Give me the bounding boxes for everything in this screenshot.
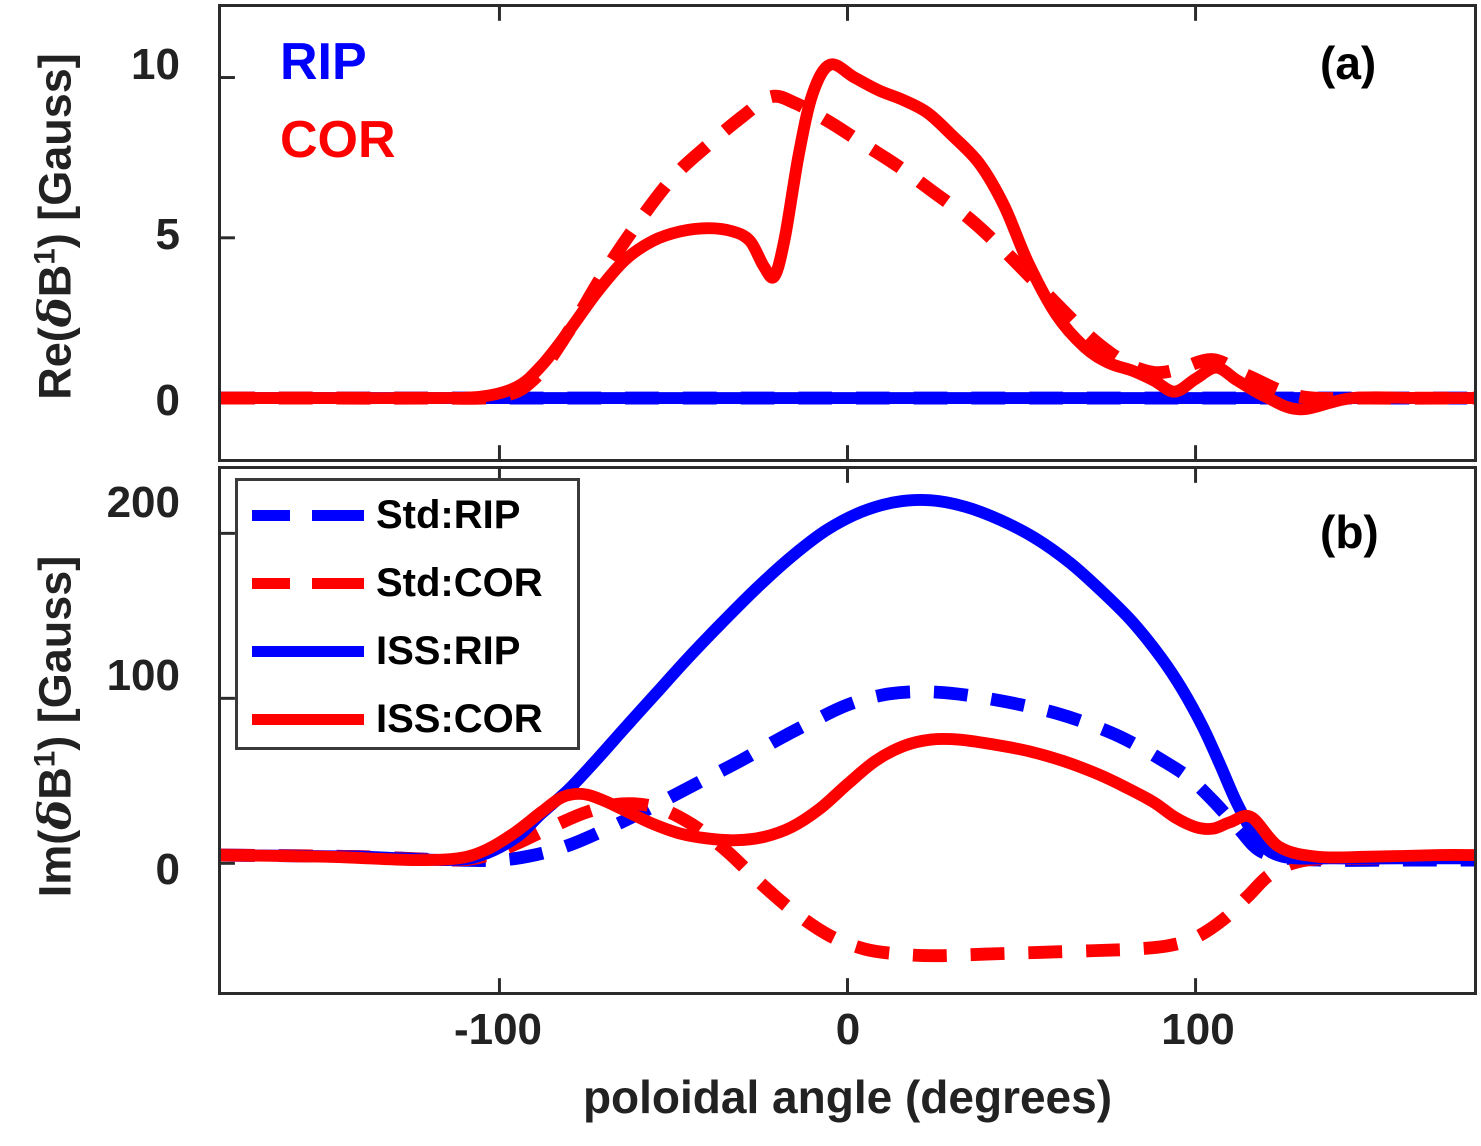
panel-a-ytick-10: 10: [30, 40, 180, 90]
panel-b-ytick-200: 200: [20, 478, 180, 528]
legend-swatch-iss-cor: [252, 714, 364, 725]
x-axis-label: poloidal angle (degrees): [218, 1070, 1477, 1124]
panel-b-ytick-100: 100: [20, 651, 180, 701]
panel-b-tag: (b): [1320, 505, 1379, 559]
panel-b-ytick-0: 0: [20, 845, 180, 895]
panel-b-y-axis-label: Im(δB1) [Gauss]: [29, 472, 82, 982]
series-iss-cor: [221, 739, 1474, 860]
legend-label-iss-cor: ISS:COR: [376, 697, 543, 742]
legend-swatch-std-cor: [252, 578, 364, 589]
panel-a-axes: [218, 4, 1477, 462]
panel-a-plot: [221, 7, 1474, 459]
panel-a-tag: (a): [1320, 36, 1376, 90]
legend-item-iss-rip[interactable]: ISS:RIP: [238, 617, 577, 685]
legend-item-iss-cor[interactable]: ISS:COR: [238, 685, 577, 753]
legend-swatch-iss-rip: [252, 646, 364, 657]
panel-a-ytick-5: 5: [30, 210, 180, 260]
xtick-label-0: 0: [758, 1005, 938, 1055]
series-iss-cor: [221, 64, 1474, 409]
legend-swatch-std-rip: [252, 510, 364, 521]
legend: Std:RIP Std:COR ISS:RIP ISS:COR: [235, 478, 580, 750]
panel-a-ytick-0: 0: [30, 376, 180, 426]
legend-item-std-rip[interactable]: Std:RIP: [238, 481, 577, 549]
series-std-cor: [221, 804, 1474, 956]
xtick-label-minus100: -100: [408, 1005, 588, 1055]
legend-label-std-cor: Std:COR: [376, 561, 543, 606]
figure-canvas: Re(δB1) [Gauss] 10 5 0 (a) RIP COR Im(δB…: [0, 0, 1481, 1146]
legend-item-std-cor[interactable]: Std:COR: [238, 549, 577, 617]
series-std-cor: [221, 96, 1474, 398]
legend-label-iss-rip: ISS:RIP: [376, 629, 520, 674]
legend-label-std-rip: Std:RIP: [376, 493, 520, 538]
xtick-label-100: 100: [1108, 1005, 1288, 1055]
annotation-cor: COR: [280, 110, 396, 170]
annotation-rip: RIP: [280, 32, 367, 92]
